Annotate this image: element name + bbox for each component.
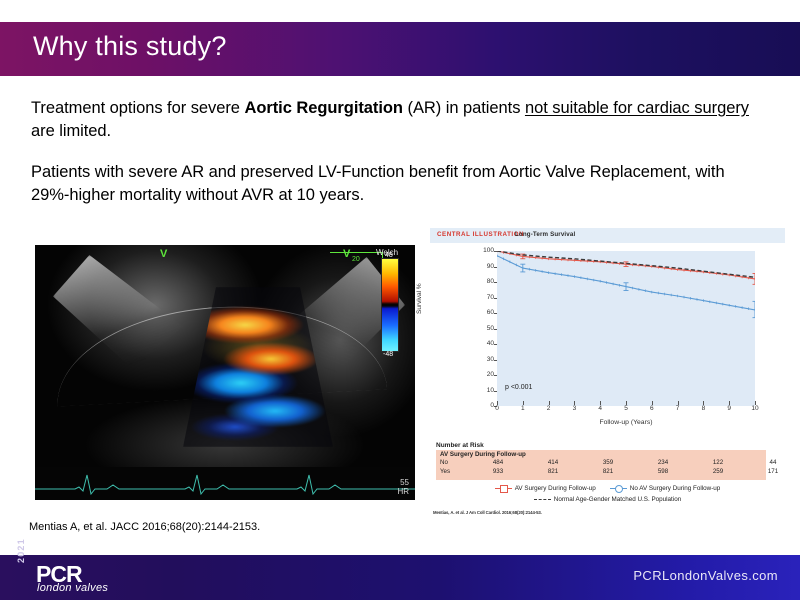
legend-marker-dashed bbox=[534, 495, 551, 503]
y-tick-mark bbox=[494, 251, 497, 252]
pcr-logo: 2021 PCR london valves bbox=[16, 561, 146, 595]
x-tick-mark bbox=[703, 401, 704, 405]
risk-value: 821 bbox=[541, 468, 565, 475]
colorbar-max: 48 bbox=[385, 252, 393, 259]
p-value-annotation: p <0.001 bbox=[505, 384, 532, 391]
figure-citation: Mentias, A. et al. J Am Coll Cardiol. 20… bbox=[433, 510, 542, 515]
risk-table-subtitle: AV Surgery During Follow-up bbox=[440, 451, 526, 458]
para1-underline-term: not suitable for cardiac surgery bbox=[525, 99, 749, 117]
x-tick-label: 1 bbox=[517, 405, 529, 412]
slide: Why this study? Treatment options for se… bbox=[0, 0, 800, 600]
hr-label: HR bbox=[397, 487, 409, 496]
chart-legend: AV Surgery During Follow-up No AV Surger… bbox=[430, 484, 785, 506]
y-tick-label: 100 bbox=[474, 247, 494, 254]
x-tick-mark bbox=[729, 401, 730, 405]
risk-value: 122 bbox=[706, 459, 730, 466]
logo-year: 2021 bbox=[16, 533, 26, 563]
x-tick-mark bbox=[626, 401, 627, 405]
echo-angle-value: 20 bbox=[352, 256, 360, 263]
risk-table-title: Number at Risk bbox=[436, 442, 484, 449]
x-tick-mark bbox=[574, 401, 575, 405]
x-tick-label: 5 bbox=[620, 405, 632, 412]
x-tick-label: 6 bbox=[646, 405, 658, 412]
y-tick-label: 80 bbox=[474, 278, 494, 285]
body-paragraph-2: Patients with severe AR and preserved LV… bbox=[31, 161, 755, 208]
y-tick-label: 40 bbox=[474, 340, 494, 347]
y-tick-mark bbox=[494, 313, 497, 314]
risk-table: AV Surgery During Follow-up No4844143592… bbox=[436, 450, 766, 480]
title-bar: Why this study? bbox=[0, 22, 800, 76]
x-tick-mark bbox=[652, 401, 653, 405]
figure-header-tag: CENTRAL ILLUSTRATION bbox=[437, 231, 524, 238]
doppler-colorbar bbox=[381, 258, 399, 352]
body-paragraph-1: Treatment options for severe Aortic Regu… bbox=[31, 97, 755, 144]
x-tick-label: 0 bbox=[491, 405, 503, 412]
y-tick-mark bbox=[494, 391, 497, 392]
risk-value: 484 bbox=[486, 459, 510, 466]
risk-value: 598 bbox=[651, 468, 675, 475]
risk-value: 821 bbox=[596, 468, 620, 475]
y-tick-label: 20 bbox=[474, 371, 494, 378]
legend-label-2: Normal Age-Gender Matched U.S. Populatio… bbox=[554, 496, 681, 503]
footer-bar: 2021 PCR london valves PCRLondonValves.c… bbox=[0, 555, 800, 600]
y-tick-mark bbox=[494, 344, 497, 345]
y-tick-label: 30 bbox=[474, 356, 494, 363]
legend-marker-red bbox=[495, 484, 512, 492]
logo-subtitle: london valves bbox=[37, 582, 108, 594]
figure-header-title: Long-Term Survival bbox=[515, 231, 575, 238]
x-tick-label: 8 bbox=[697, 405, 709, 412]
risk-value: 414 bbox=[541, 459, 565, 466]
risk-value: 171 bbox=[761, 468, 785, 475]
risk-value: 359 bbox=[596, 459, 620, 466]
x-tick-mark bbox=[497, 401, 498, 405]
x-tick-mark bbox=[523, 401, 524, 405]
x-tick-label: 10 bbox=[749, 405, 761, 412]
x-tick-mark bbox=[678, 401, 679, 405]
para1-seg2: (AR) in patients bbox=[403, 99, 525, 117]
slide-citation: Mentias A, et al. JACC 2016;68(20):2144-… bbox=[29, 521, 260, 533]
y-tick-label: 50 bbox=[474, 325, 494, 332]
x-tick-label: 3 bbox=[568, 405, 580, 412]
x-tick-label: 2 bbox=[543, 405, 555, 412]
survival-curves bbox=[497, 251, 755, 406]
legend-item-av-surgery: AV Surgery During Follow-up bbox=[495, 484, 596, 492]
y-tick-mark bbox=[494, 360, 497, 361]
heart-rate-indicator: 55 HR bbox=[397, 478, 409, 496]
hr-value: 55 bbox=[397, 478, 409, 487]
x-tick-label: 9 bbox=[723, 405, 735, 412]
legend-item-no-av-surgery: No AV Surgery During Follow-up bbox=[610, 484, 721, 492]
legend-item-normal-population: Normal Age-Gender Matched U.S. Populatio… bbox=[534, 495, 681, 503]
para1-bold-term: Aortic Regurgitation bbox=[244, 99, 403, 117]
para1-seg1: Treatment options for severe bbox=[31, 99, 244, 117]
jacc-figure: CENTRAL ILLUSTRATION Long-Term Survival … bbox=[430, 228, 785, 523]
para1-seg3: are limited. bbox=[31, 122, 111, 140]
risk-value: 234 bbox=[651, 459, 675, 466]
y-tick-label: 10 bbox=[474, 387, 494, 394]
colorbar-min: -48 bbox=[383, 351, 393, 358]
legend-label-1: No AV Surgery During Follow-up bbox=[630, 485, 721, 492]
legend-marker-blue bbox=[610, 484, 627, 492]
y-tick-label: 70 bbox=[474, 294, 494, 301]
risk-row-label: Yes bbox=[440, 468, 450, 475]
y-tick-mark bbox=[494, 282, 497, 283]
x-tick-label: 7 bbox=[672, 405, 684, 412]
page-title: Why this study? bbox=[33, 31, 227, 62]
risk-value: 44 bbox=[761, 459, 785, 466]
y-axis-label: Survival % bbox=[416, 283, 423, 314]
y-tick-label: 60 bbox=[474, 309, 494, 316]
risk-value: 933 bbox=[486, 468, 510, 475]
y-tick-mark bbox=[494, 298, 497, 299]
x-axis-label: Follow-up (Years) bbox=[497, 419, 755, 426]
ecg-trace: 55 HR bbox=[35, 467, 415, 500]
x-tick-mark bbox=[549, 401, 550, 405]
risk-row-label: No bbox=[440, 459, 448, 466]
y-tick-mark bbox=[494, 267, 497, 268]
y-tick-mark bbox=[494, 375, 497, 376]
y-tick-label: 90 bbox=[474, 263, 494, 270]
x-tick-mark bbox=[755, 401, 756, 405]
echo-marker-v-left: V bbox=[160, 248, 167, 260]
legend-label-0: AV Surgery During Follow-up bbox=[515, 485, 596, 492]
y-tick-mark bbox=[494, 329, 497, 330]
echocardiogram-image: 55 HR bbox=[35, 245, 415, 500]
x-tick-mark bbox=[600, 401, 601, 405]
risk-value: 259 bbox=[706, 468, 730, 475]
x-tick-label: 4 bbox=[594, 405, 606, 412]
survival-plot: 0102030405060708090100 012345678910 Surv… bbox=[430, 246, 785, 438]
footer-url[interactable]: PCRLondonValves.com bbox=[633, 568, 778, 583]
plot-area bbox=[497, 251, 755, 406]
